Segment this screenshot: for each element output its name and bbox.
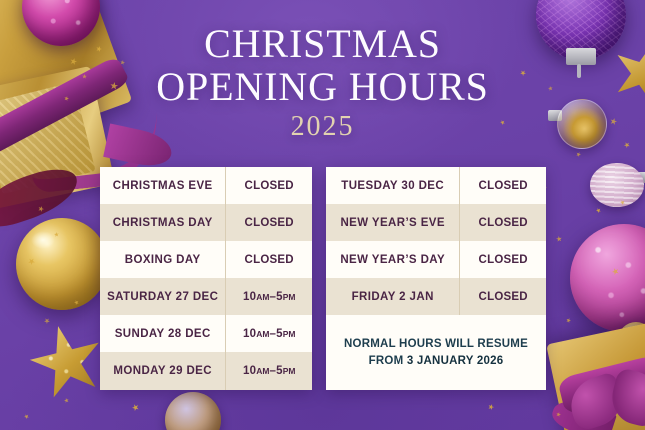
hours-am-suffix: AM [256,292,269,302]
row-day-label: NEW YEAR’S DAY [326,241,460,278]
row-day-label: SUNDAY 28 DEC [100,315,226,352]
row-hours-value: CLOSED [460,167,546,204]
hours-am-suffix: AM [256,366,269,376]
note-line-1: NORMAL HOURS WILL RESUME [344,336,528,353]
gold-star-confetti [27,257,36,266]
gold-star-confetti [556,412,561,417]
table-row: SUNDAY 28 DEC 10AM–5PM [100,315,312,352]
row-day-label: SATURDAY 27 DEC [100,278,226,315]
magenta-bow-loop-right [606,367,645,429]
table-row: FRIDAY 2 JAN CLOSED [326,278,546,315]
hours-close-time: –5 [269,291,282,303]
gold-star-confetti [565,317,572,324]
opening-hours-table-right: TUESDAY 30 DEC CLOSED NEW YEAR’S EVE CLO… [326,167,546,390]
gold-star-confetti [576,152,582,158]
small-gold-bauble-bottom-right [618,322,645,358]
gold-star-confetti [63,397,70,404]
magenta-ribbon-bottom-right [557,354,645,416]
hours-close-time: –5 [269,328,282,340]
gold-star-confetti [595,207,602,214]
hours-am-suffix: AM [256,329,269,339]
gold-star-confetti [54,232,59,237]
table-row: NEW YEAR’S DAY CLOSED [326,241,546,278]
row-hours-value: 10AM–5PM [226,352,312,389]
gold-glitter-star-left [22,317,112,407]
table-row: TUESDAY 30 DEC CLOSED [326,167,546,204]
striped-bauble-right [590,163,644,207]
table-row: SATURDAY 27 DEC 10AM–5PM [100,278,312,315]
hours-open-time: 10 [243,291,256,303]
hours-pm-suffix: PM [283,292,296,302]
hours-pm-suffix: PM [283,329,296,339]
bauble-cap-striped [636,172,645,183]
hours-close-time: –5 [269,365,282,377]
row-hours-value: CLOSED [460,204,546,241]
maroon-fabric-wisp [0,162,84,233]
headline-line-1: CHRISTMAS [0,22,645,65]
poster-headline: CHRISTMAS OPENING HOURS 2025 [0,22,645,143]
row-day-label: BOXING DAY [100,241,226,278]
hours-open-time: 10 [243,365,256,377]
row-hours-value: CLOSED [226,241,312,278]
table-row: CHRISTMAS EVE CLOSED [100,167,312,204]
row-day-label: CHRISTMAS DAY [100,204,226,241]
pink-glitter-bauble-bottom-right [570,224,645,332]
gold-star-confetti [73,299,80,306]
table-row: NEW YEAR’S EVE CLOSED [326,204,546,241]
headline-line-2: OPENING HOURS [0,65,645,108]
gold-gift-box-bottom-right [546,318,645,430]
gold-star-confetti [611,267,621,277]
gold-star-confetti [556,236,563,243]
gold-gift-box-bottom-right-lower [562,373,645,430]
headline-year: 2025 [0,112,645,142]
magenta-bow-tail [549,395,617,430]
note-line-2-prefix: FROM [369,355,407,367]
row-day-label: TUESDAY 30 DEC [326,167,460,204]
table-row: CHRISTMAS DAY CLOSED [100,204,312,241]
resume-date: 3 JANUARY 2026 [407,355,504,367]
row-hours-value: CLOSED [226,167,312,204]
gold-star-confetti [131,403,140,412]
gold-star-confetti [620,200,626,206]
magenta-bow-loop-left [564,371,628,430]
gold-star-confetti [37,205,44,212]
normal-hours-resume-note: NORMAL HOURS WILL RESUME FROM 3 JANUARY … [326,315,546,389]
row-hours-value: CLOSED [460,278,546,315]
row-day-label: NEW YEAR’S EVE [326,204,460,241]
row-day-label: CHRISTMAS EVE [100,167,226,204]
row-hours-value: 10AM–5PM [226,278,312,315]
christmas-opening-hours-poster: CHRISTMAS OPENING HOURS 2025 CHRISTMAS E… [0,0,645,430]
gold-glitter-bauble-bottom-left [165,392,221,430]
row-hours-value: 10AM–5PM [226,315,312,352]
hours-pm-suffix: PM [283,366,296,376]
table-row: MONDAY 29 DEC 10AM–5PM [100,352,312,389]
row-day-label: FRIDAY 2 JAN [326,278,460,315]
hours-open-time: 10 [243,328,256,340]
table-row: BOXING DAY CLOSED [100,241,312,278]
row-hours-value: CLOSED [460,241,546,278]
row-hours-value: CLOSED [226,204,312,241]
opening-hours-table-left: CHRISTMAS EVE CLOSED CHRISTMAS DAY CLOSE… [100,167,312,390]
gold-bauble-left [16,218,108,310]
gold-star-confetti [487,403,495,411]
row-day-label: MONDAY 29 DEC [100,352,226,389]
gold-star-confetti [23,413,30,420]
note-line-2: FROM 3 JANUARY 2026 [369,353,504,370]
gold-star-confetti [44,318,50,324]
